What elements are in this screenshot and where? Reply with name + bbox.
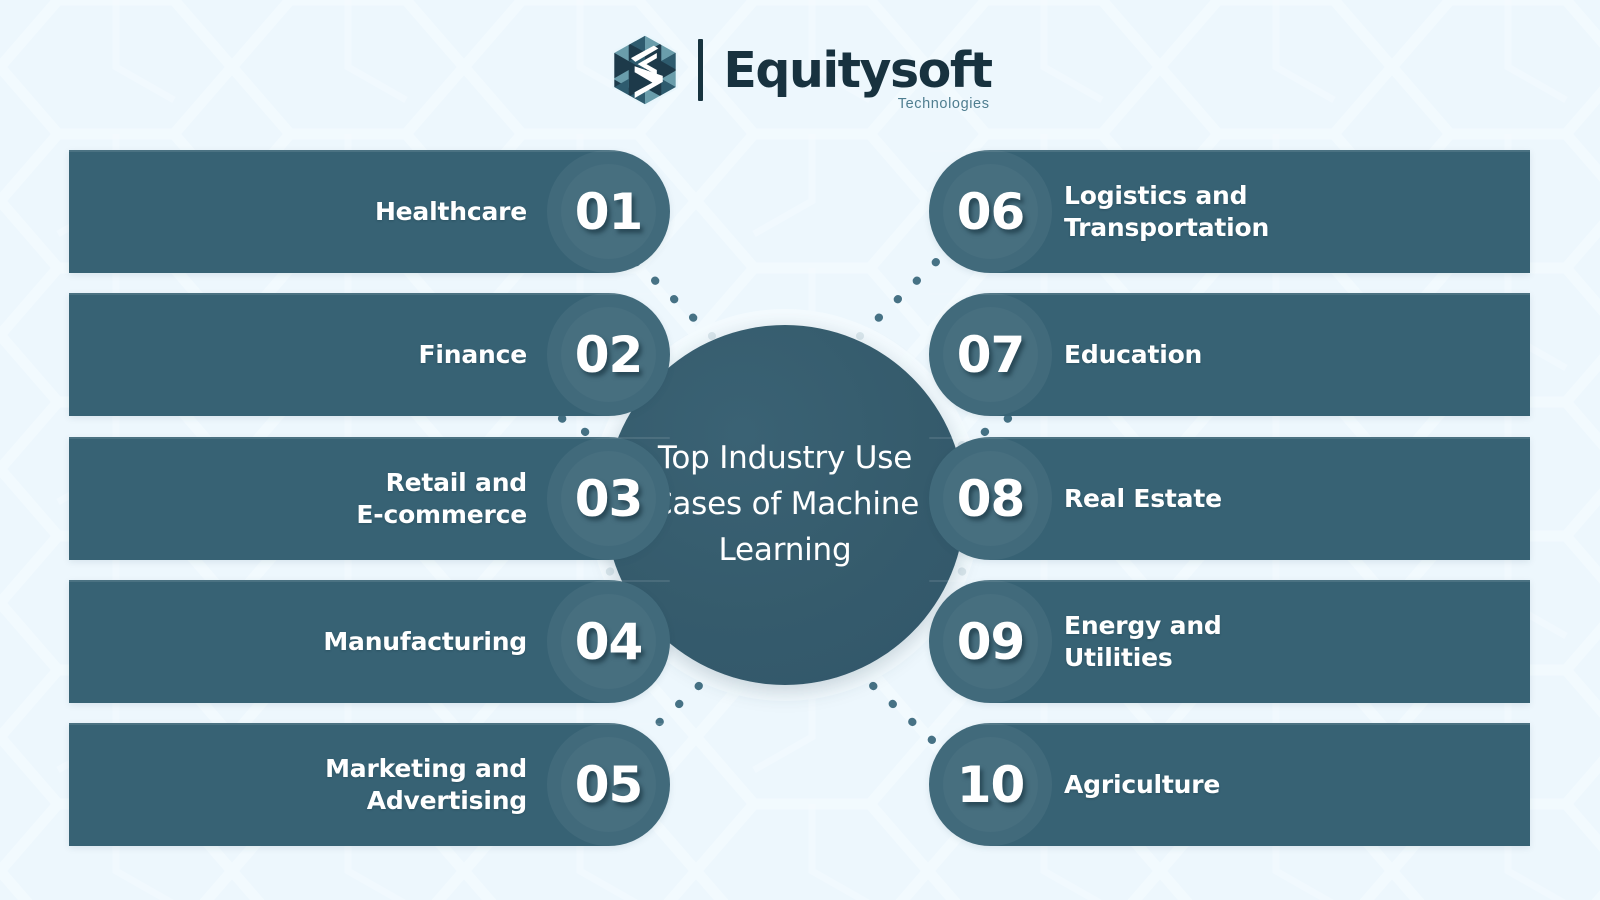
item-number-04: 04 [575, 617, 643, 667]
item-badge-01: 01 [547, 150, 670, 273]
item-number-06: 06 [957, 187, 1025, 237]
logo-name: Equitysoft [723, 46, 991, 95]
item-label-04: Manufacturing [323, 626, 527, 658]
item-label-10: Agriculture [1064, 769, 1220, 801]
item-badge-05: 05 [547, 723, 670, 846]
item-label-03: Retail and E-commerce [356, 467, 527, 531]
item-card-05[interactable]: Marketing and Advertising 05 [69, 723, 670, 846]
logo-tagline: Technologies [898, 96, 990, 112]
item-card-02[interactable]: Finance 02 [69, 293, 670, 416]
item-badge-09: 09 [929, 580, 1052, 703]
item-card-04[interactable]: Manufacturing 04 [69, 580, 670, 703]
item-number-08: 08 [957, 474, 1025, 524]
item-badge-10: 10 [929, 723, 1052, 846]
item-label-09: Energy and Utilities [1064, 610, 1222, 674]
hub-title: Top Industry Use Cases of Machine Learni… [625, 436, 945, 574]
logo-wordmark: Equitysoft Technologies [723, 46, 991, 95]
item-badge-02: 02 [547, 293, 670, 416]
item-card-07[interactable]: 07 Education [929, 293, 1530, 416]
item-card-06[interactable]: 06 Logistics and Transportation [929, 150, 1530, 273]
infographic-canvas: Equitysoft Technologies Top Industry Use… [0, 0, 1600, 900]
item-badge-04: 04 [547, 580, 670, 703]
equitysoft-cube-logo-icon [608, 33, 682, 107]
item-label-06: Logistics and Transportation [1064, 180, 1269, 244]
item-card-08[interactable]: 08 Real Estate [929, 437, 1530, 560]
item-badge-07: 07 [929, 293, 1052, 416]
item-badge-08: 08 [929, 437, 1052, 560]
item-label-07: Education [1064, 339, 1202, 371]
item-label-01: Healthcare [375, 196, 527, 228]
item-number-07: 07 [957, 330, 1025, 380]
brand-logo: Equitysoft Technologies [0, 24, 1600, 116]
item-number-02: 02 [575, 330, 643, 380]
item-card-10[interactable]: 10 Agriculture [929, 723, 1530, 846]
item-label-02: Finance [419, 339, 528, 371]
item-badge-03: 03 [547, 437, 670, 560]
item-number-09: 09 [957, 617, 1025, 667]
item-number-05: 05 [575, 760, 643, 810]
logo-divider [698, 39, 703, 101]
item-card-01[interactable]: Healthcare 01 [69, 150, 670, 273]
item-label-08: Real Estate [1064, 483, 1222, 515]
item-card-03[interactable]: Retail and E-commerce 03 [69, 437, 670, 560]
item-card-09[interactable]: 09 Energy and Utilities [929, 580, 1530, 703]
item-label-05: Marketing and Advertising [325, 753, 527, 817]
item-badge-06: 06 [929, 150, 1052, 273]
item-number-01: 01 [575, 187, 643, 237]
item-number-10: 10 [957, 760, 1025, 810]
item-number-03: 03 [575, 474, 643, 524]
